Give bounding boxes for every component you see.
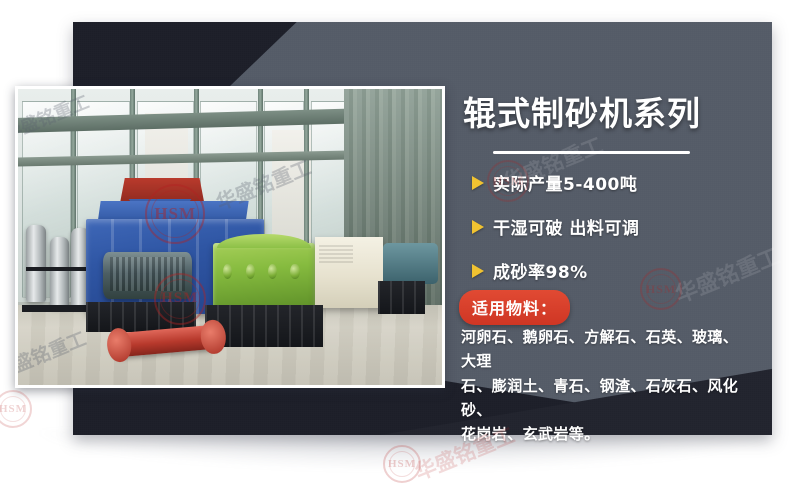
feature-item: 实际产量5-400吨 bbox=[472, 170, 762, 195]
machine-green-gearbox bbox=[213, 243, 315, 308]
hsm-seal-watermark: HSM bbox=[0, 390, 32, 428]
accumulator-cylinder bbox=[50, 237, 69, 308]
cylinder-frame bbox=[22, 305, 94, 312]
feature-label: 干湿可破 出料可调 bbox=[493, 214, 639, 239]
gearbox-shaft bbox=[246, 264, 255, 280]
hsm-seal-text: HSM bbox=[0, 403, 27, 415]
accumulator-cylinder bbox=[26, 225, 45, 302]
materials-badge: 适用物料： bbox=[459, 290, 570, 325]
arrow-right-icon bbox=[472, 264, 484, 278]
gearbox-shaft bbox=[268, 264, 277, 280]
materials-line: 石、膨润土、青石、钢渣、石灰石、风化砂、 bbox=[461, 374, 751, 423]
gearbox-shaft bbox=[290, 264, 299, 280]
feature-label: 实际产量5-400吨 bbox=[493, 170, 637, 195]
materials-line: 河卵石、鹅卵石、方解石、石英、玻璃、大理 bbox=[461, 325, 751, 374]
feature-item: 干湿可破 出料可调 bbox=[472, 214, 762, 239]
product-photo: HSM HSM 华盛铭重工 华盛铭重工 华盛铭重工 bbox=[15, 86, 445, 388]
feature-label: 成砂率98% bbox=[493, 258, 588, 283]
machine-teal-motor bbox=[383, 243, 438, 284]
product-photo-image: HSM HSM 华盛铭重工 华盛铭重工 华盛铭重工 bbox=[18, 89, 442, 385]
arrow-right-icon bbox=[472, 220, 484, 234]
materials-list: 河卵石、鹅卵石、方解石、石英、玻璃、大理 石、膨润土、青石、钢渣、石灰石、风化砂… bbox=[461, 325, 751, 446]
machine-rib bbox=[196, 219, 199, 314]
arrow-right-icon bbox=[472, 176, 484, 190]
machine-electric-motor bbox=[103, 252, 192, 299]
gearbox-shaft bbox=[223, 264, 232, 280]
feature-item: 成砂率98% bbox=[472, 258, 762, 283]
materials-line: 花岗岩、玄武岩等。 bbox=[461, 422, 751, 446]
title-divider bbox=[493, 151, 690, 154]
promo-banner: HSM HSM 华盛铭重工 华盛铭重工 华盛铭重工 辊式制砂机系列 实际产量5-… bbox=[0, 0, 800, 486]
cylinder-frame bbox=[26, 267, 90, 271]
machine-control-cabinet bbox=[315, 237, 383, 308]
machine-base-frame bbox=[378, 281, 425, 314]
page-title: 辊式制砂机系列 bbox=[463, 97, 701, 130]
feature-list: 实际产量5-400吨 干湿可破 出料可调 成砂率98% bbox=[472, 170, 762, 302]
